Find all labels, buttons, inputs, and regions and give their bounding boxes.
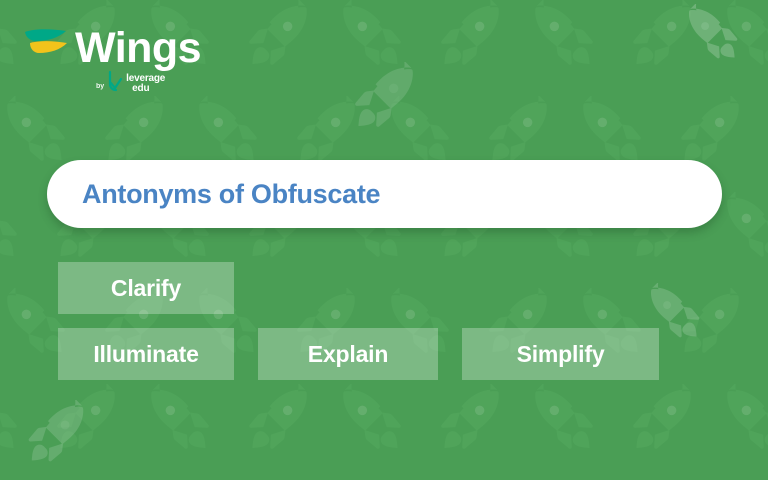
rocket-icon [720,384,768,458]
answer-chip-explain[interactable]: Explain [258,328,438,380]
accent-rocket-upper-mid [346,62,420,136]
answer-chip-group: ClarifyIlluminateExplainSimplify [58,262,659,380]
rocket-icon [240,0,314,74]
rocket-icon [528,384,602,458]
leverage-edu-wordmark: leverage edu [126,74,165,94]
accent-rocket-top-right [683,4,745,66]
rocket-icon [96,96,170,170]
rocket-icon [48,384,122,458]
answer-chip-illuminate[interactable]: Illuminate [58,328,234,380]
answer-chip-row-1: Clarify [58,262,659,314]
rocket-icon [432,384,506,458]
leverage-edu-check-icon [107,70,123,97]
rocket-icon [672,96,746,170]
rocket-icon [240,384,314,458]
rocket-icon [0,384,26,458]
page-title: Antonyms of Obfuscate [82,179,380,210]
rocket-icon [144,384,218,458]
wings-logo-icon [22,26,74,71]
rocket-icon [480,96,554,170]
slide-canvas: Wings by leverage edu Antonyms of Obfusc… [0,0,768,480]
rocket-icon [0,96,74,170]
rocket-icon [720,192,768,266]
rocket-icon [192,96,266,170]
rocket-icon [384,96,458,170]
leverage-edu-line2: edu [126,84,165,94]
answer-chip-row-2: IlluminateExplainSimplify [58,328,659,380]
logo-by-label: by [96,83,104,90]
accent-rocket-bottom-left [20,400,90,470]
rocket-icon [432,0,506,74]
rocket-icon [528,0,602,74]
rocket-icon [720,0,768,74]
rocket-icon [624,384,698,458]
rocket-icon [336,384,410,458]
rocket-icon [624,0,698,74]
brand-logo: Wings by leverage edu [22,22,202,102]
logo-byline: by leverage edu [96,72,165,94]
rocket-icon [672,288,746,362]
answer-chip-clarify[interactable]: Clarify [58,262,234,314]
logo-wordmark: Wings [75,22,201,74]
rocket-icon [288,96,362,170]
answer-chip-simplify[interactable]: Simplify [462,328,659,380]
rocket-icon [576,96,650,170]
title-card: Antonyms of Obfuscate [47,160,722,228]
rocket-icon [336,0,410,74]
rocket-icon [0,192,26,266]
